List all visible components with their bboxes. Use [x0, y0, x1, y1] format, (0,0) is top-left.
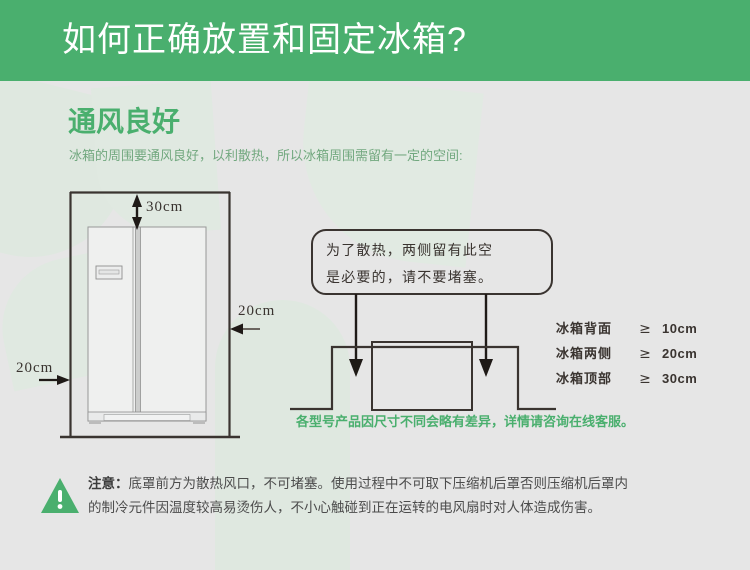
spec-value: 10cm [662, 321, 697, 336]
spec-row: 冰箱两侧 ≥ 20cm [556, 343, 746, 368]
warning-line-2: 的制冷元件因温度较高易烫伤人，不小心触碰到正在运转的电风扇时对人体造成伤害。 [88, 496, 628, 520]
spec-label: 冰箱顶部 [556, 368, 628, 387]
spec-value: 20cm [662, 346, 697, 361]
section-heading: 通风良好 [68, 104, 180, 140]
left-clearance-label: 20cm [16, 360, 53, 376]
header-banner: 如何正确放置和固定冰箱? [0, 0, 750, 81]
callout-pointer-right [479, 294, 493, 377]
callout-pointer-left [349, 294, 363, 377]
spec-label: 冰箱两侧 [556, 343, 628, 362]
section-subheading: 冰箱的周围要通风良好，以利散热，所以冰箱周围需留有一定的空间: [69, 146, 463, 166]
callout-line-1: 为了散热，两侧留有此空 [326, 242, 493, 258]
warning-lead: 注意： [88, 476, 129, 491]
callout-line-2: 是必要的，请不要堵塞。 [326, 269, 493, 285]
page-root: 如何正确放置和固定冰箱? 通风良好 冰箱的周围要通风良好，以利散热，所以冰箱周围… [0, 0, 750, 570]
fridge-top-view [372, 342, 472, 410]
model-variation-disclaimer: 各型号产品因尺寸不同会略有差异，详情请咨询在线客服。 [296, 411, 634, 430]
spec-row: 冰箱顶部 ≥ 30cm [556, 368, 746, 393]
spec-row: 冰箱背面 ≥ 10cm [556, 318, 746, 343]
left-clearance-arrow [39, 375, 70, 385]
spec-operator: ≥ [628, 321, 662, 337]
warning-triangle-icon [38, 474, 82, 518]
fridge-panel-display [99, 270, 119, 274]
warning-block: 注意：底罩前方为散热风口，不可堵塞。使用过程中不可取下压缩机后罩否则压缩机后罩内… [38, 472, 728, 520]
fridge-foot-left [89, 421, 101, 424]
top-clearance-label: 30cm [146, 199, 183, 215]
fridge-foot-right [193, 421, 205, 424]
page-title: 如何正确放置和固定冰箱? [62, 17, 467, 63]
fridge-body [88, 227, 206, 421]
spec-bracket [290, 347, 556, 409]
fridge-front-view-diagram: 30cm 20cm 20cm [0, 180, 300, 460]
clearance-spec-list: 冰箱背面 ≥ 10cm 冰箱两侧 ≥ 20cm 冰箱顶部 ≥ 30cm [556, 318, 746, 393]
spec-operator: ≥ [628, 371, 662, 387]
fridge-base-vent [104, 415, 190, 421]
right-clearance-arrow [230, 324, 260, 335]
spec-value: 30cm [662, 371, 697, 386]
spec-label: 冰箱背面 [556, 318, 628, 337]
spec-operator: ≥ [628, 346, 662, 362]
top-clearance-arrow [132, 194, 142, 230]
warning-text: 注意：底罩前方为散热风口，不可堵塞。使用过程中不可取下压缩机后罩否则压缩机后罩内… [88, 472, 628, 520]
warning-line-1: 底罩前方为散热风口，不可堵塞。使用过程中不可取下压缩机后罩否则压缩机后罩内 [129, 476, 629, 491]
